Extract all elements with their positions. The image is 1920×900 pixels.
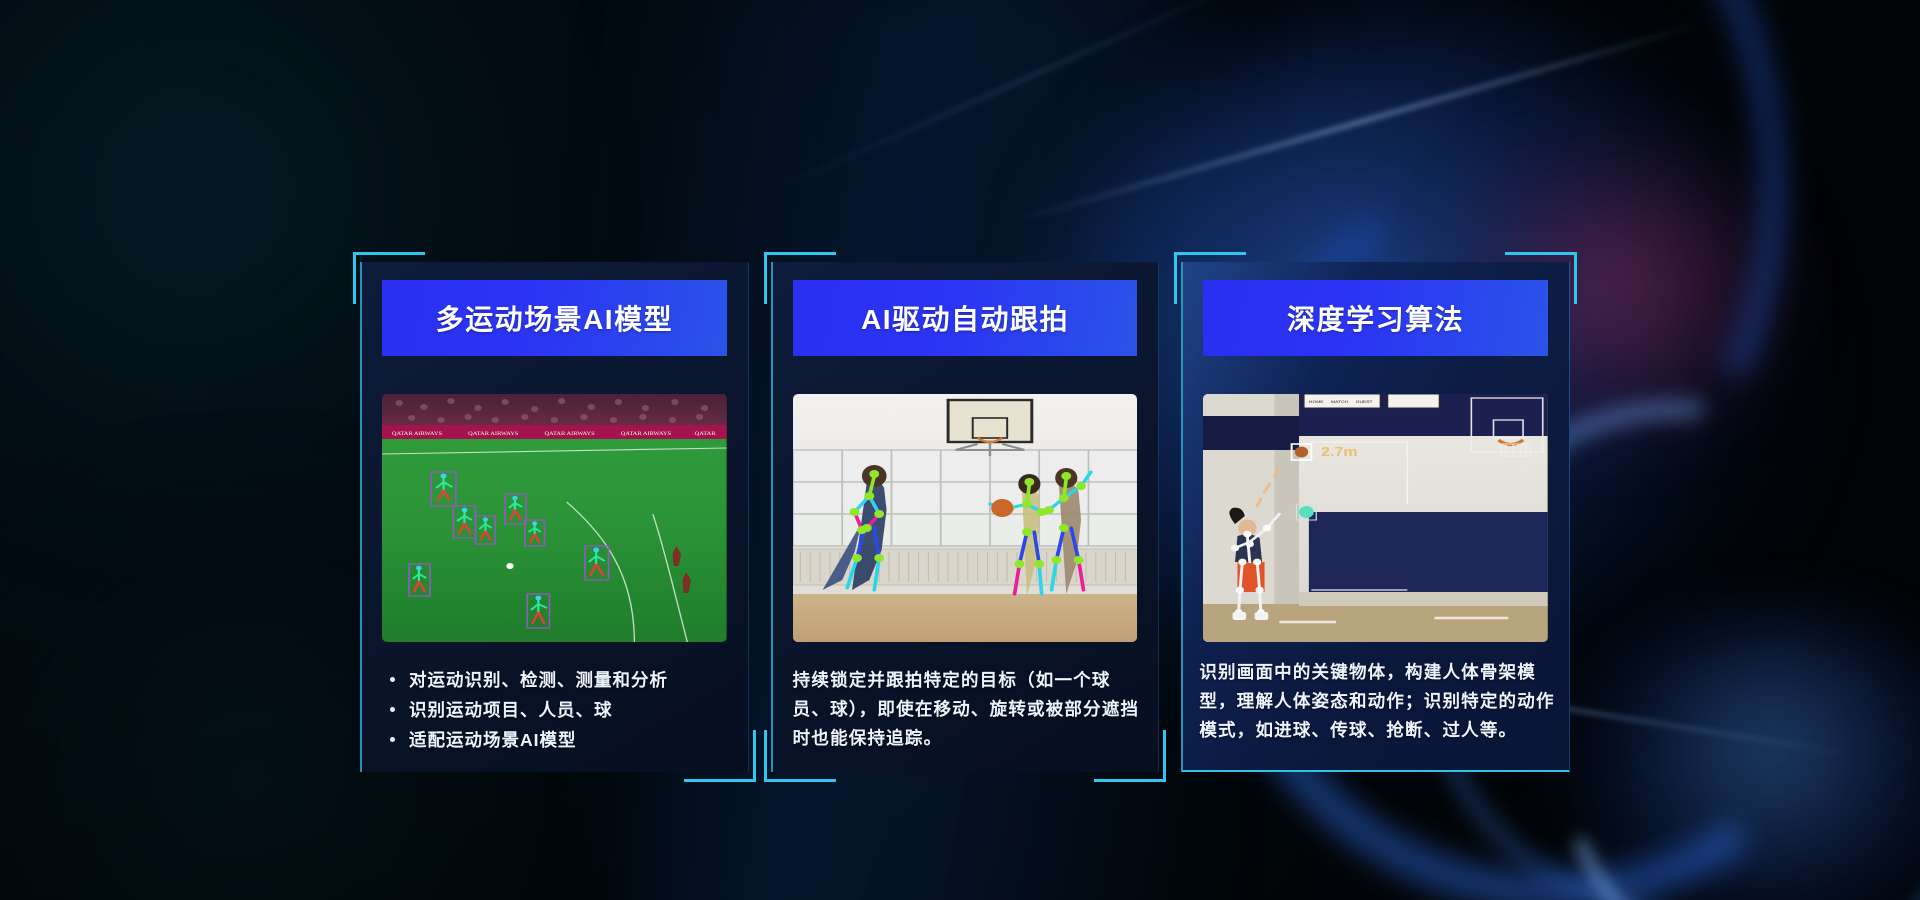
distance-label: 2.7m bbox=[1322, 445, 1358, 459]
shot-analysis-scene-graphic: HOMEMATCHGUEST bbox=[1203, 394, 1548, 642]
card-paragraph: 识别画面中的关键物体，构建人体骨架模型，理解人体姿态和动作；识别特定的动作模式，… bbox=[1199, 658, 1560, 745]
card-title-banner: AI驱动自动跟拍 bbox=[793, 280, 1138, 356]
bullet-list: 对运动识别、检测、测量和分析 识别运动项目、人员、球 适配运动场景AI模型 bbox=[382, 666, 733, 754]
card-body: 识别画面中的关键物体，构建人体骨架模型，理解人体姿态和动作；识别特定的动作模式，… bbox=[1199, 658, 1560, 745]
bullet-dot-icon bbox=[390, 737, 395, 742]
soccer-pitch-detection-thumbnail[interactable]: QATAR AIRWAYSQATAR AIRWAYS QATAR AIRWAYS… bbox=[382, 394, 727, 642]
basketball-gym-scene-graphic bbox=[793, 394, 1138, 642]
svg-text:QATAR: QATAR bbox=[695, 431, 716, 436]
svg-text:QATAR AIRWAYS: QATAR AIRWAYS bbox=[468, 431, 518, 436]
bullet-text: 识别运动项目、人员、球 bbox=[409, 696, 613, 724]
card-title-banner: 深度学习算法 bbox=[1203, 280, 1548, 356]
bullet-dot-icon bbox=[390, 707, 395, 712]
svg-text:QATAR AIRWAYS: QATAR AIRWAYS bbox=[621, 431, 671, 436]
svg-text:HOME: HOME bbox=[1309, 399, 1324, 403]
svg-text:QATAR AIRWAYS: QATAR AIRWAYS bbox=[392, 431, 442, 436]
card-title: AI驱动自动跟拍 bbox=[861, 298, 1069, 338]
soccer-scene-graphic: QATAR AIRWAYSQATAR AIRWAYS QATAR AIRWAYS… bbox=[382, 394, 727, 642]
basketball-shot-trajectory-thumbnail[interactable]: HOMEMATCHGUEST bbox=[1203, 394, 1548, 642]
card-title: 多运动场景AI模型 bbox=[436, 298, 674, 338]
svg-text:QATAR AIRWAYS: QATAR AIRWAYS bbox=[544, 431, 594, 436]
feature-card-multi-sport-ai-model[interactable]: 多运动场景AI模型 bbox=[360, 262, 749, 772]
card-body: 持续锁定并跟拍特定的目标（如一个球员、球），即使在移动、旋转或被部分遮挡时也能保… bbox=[793, 666, 1144, 753]
card-paragraph: 持续锁定并跟拍特定的目标（如一个球员、球），即使在移动、旋转或被部分遮挡时也能保… bbox=[793, 666, 1144, 753]
indoor-basketball-pose-thumbnail[interactable] bbox=[793, 394, 1138, 642]
feature-cards-row: 多运动场景AI模型 bbox=[360, 262, 1570, 772]
list-item: 识别运动项目、人员、球 bbox=[382, 696, 733, 724]
list-item: 对运动识别、检测、测量和分析 bbox=[382, 666, 733, 694]
feature-card-deep-learning-algorithm[interactable]: 深度学习算法 bbox=[1181, 262, 1570, 772]
card-title-banner: 多运动场景AI模型 bbox=[382, 280, 727, 356]
bullet-text: 对运动识别、检测、测量和分析 bbox=[409, 666, 668, 694]
bullet-dot-icon bbox=[390, 677, 395, 682]
feature-card-ai-auto-tracking[interactable]: AI驱动自动跟拍 bbox=[771, 262, 1160, 772]
card-title: 深度学习算法 bbox=[1287, 298, 1464, 338]
list-item: 适配运动场景AI模型 bbox=[382, 726, 733, 754]
card-body: 对运动识别、检测、测量和分析 识别运动项目、人员、球 适配运动场景AI模型 bbox=[382, 666, 733, 756]
svg-text:GUEST: GUEST bbox=[1356, 399, 1373, 403]
svg-text:MATCH: MATCH bbox=[1331, 399, 1348, 403]
bullet-text: 适配运动场景AI模型 bbox=[409, 726, 577, 754]
